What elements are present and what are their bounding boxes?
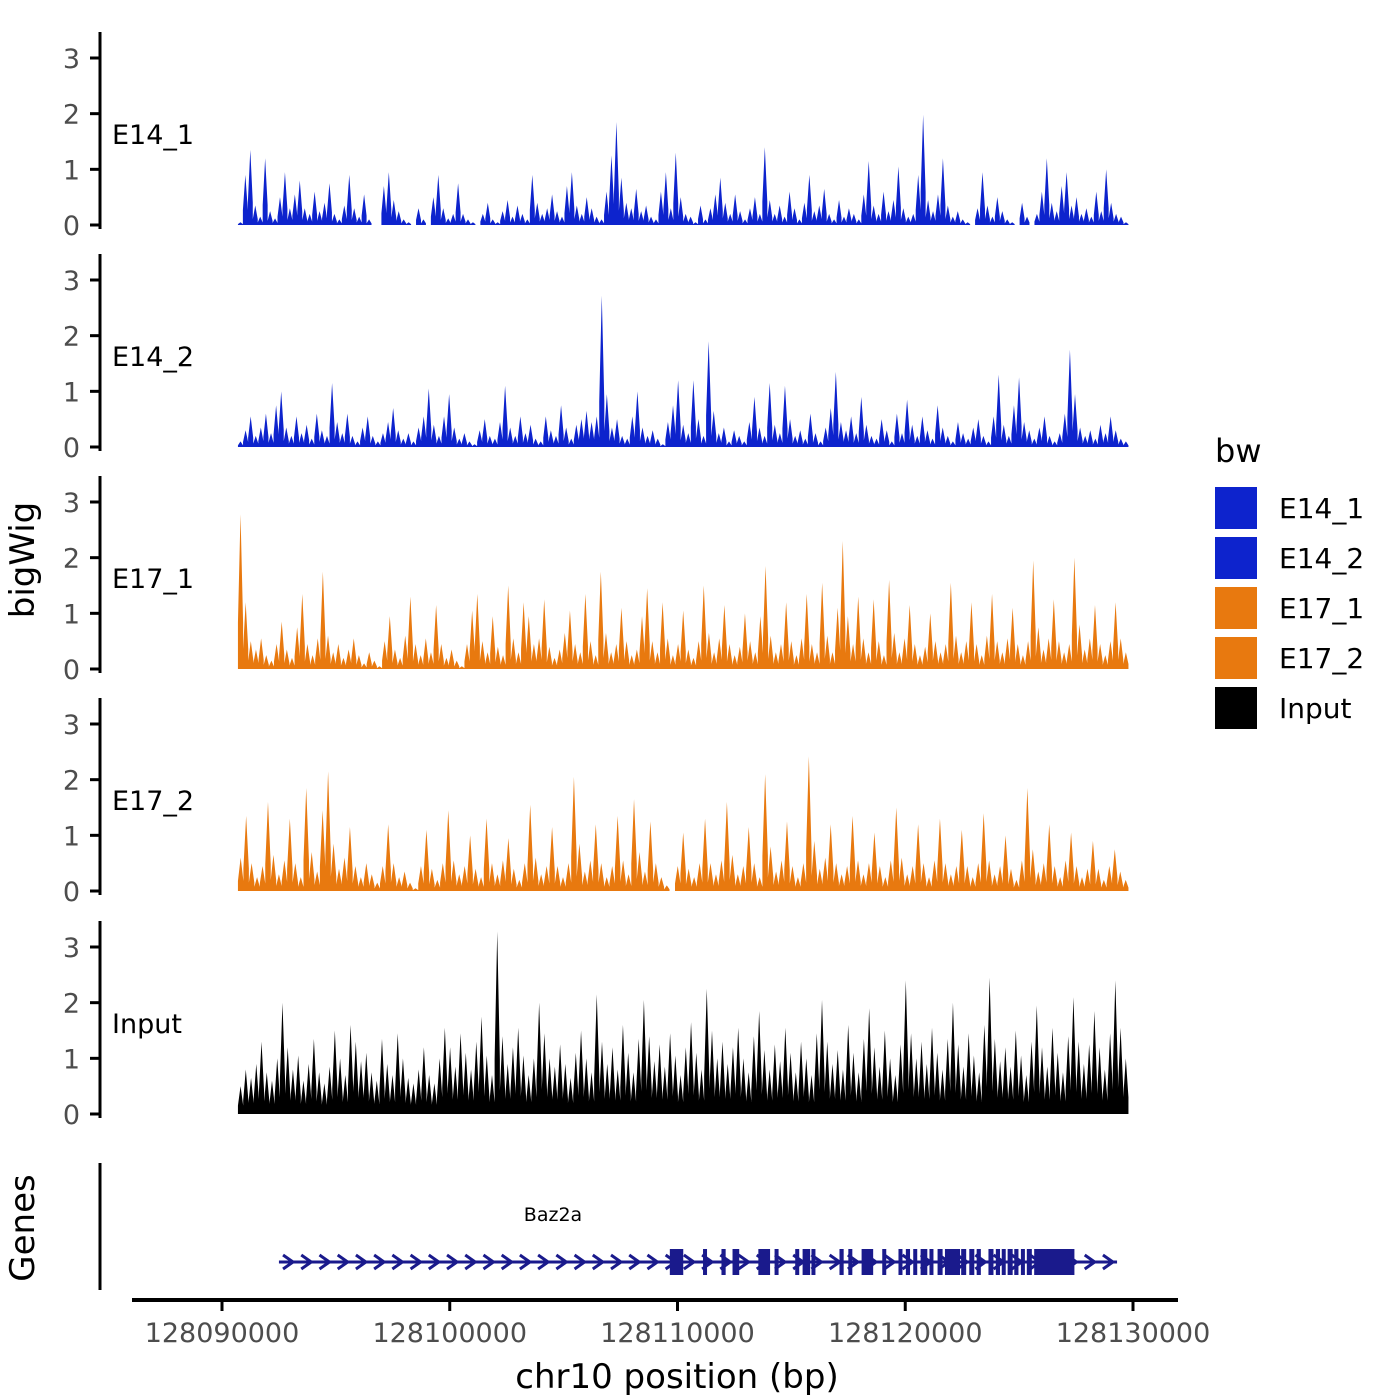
y-tick-label: 1 bbox=[63, 155, 80, 186]
legend-swatch-E14_1 bbox=[1215, 487, 1257, 529]
gene-exon-block[interactable] bbox=[1021, 1249, 1025, 1275]
gene-exon-block[interactable] bbox=[795, 1249, 799, 1275]
genome-browser-figure: 0123E14_10123E14_20123E17_10123E17_20123… bbox=[0, 0, 1400, 1400]
y-tick-label: 3 bbox=[63, 488, 80, 519]
legend-item-E17_2[interactable]: E17_2 bbox=[1215, 637, 1364, 679]
gene-exon-block[interactable] bbox=[1027, 1249, 1032, 1275]
legend-item-E17_1[interactable]: E17_1 bbox=[1215, 587, 1364, 629]
gene-exon-block[interactable] bbox=[775, 1249, 779, 1275]
gene-exon-block[interactable] bbox=[961, 1249, 966, 1275]
y-tick-label: 1 bbox=[63, 377, 80, 408]
gene-exon-block[interactable] bbox=[988, 1249, 993, 1275]
legend-swatch-E17_2 bbox=[1215, 637, 1257, 679]
legend-item-E14_2[interactable]: E14_2 bbox=[1215, 537, 1364, 579]
y-tick-label: 0 bbox=[63, 1100, 80, 1131]
gene-exon-block[interactable] bbox=[862, 1249, 870, 1275]
gene-exon-block[interactable] bbox=[803, 1249, 811, 1275]
gene-exon-block[interactable] bbox=[721, 1249, 725, 1275]
y-tick-label: 3 bbox=[63, 933, 80, 964]
y-axis-title-group: bigWig bbox=[3, 502, 43, 619]
gene-exon-block[interactable] bbox=[670, 1249, 683, 1275]
legend-label-E14_1: E14_1 bbox=[1279, 492, 1364, 525]
y-tick-label: 2 bbox=[63, 544, 80, 575]
x-tick-label: 128110000 bbox=[600, 1318, 755, 1349]
y-tick-label: 3 bbox=[63, 266, 80, 297]
x-tick-label: 128100000 bbox=[372, 1318, 527, 1349]
legend-swatch-E17_1 bbox=[1215, 587, 1257, 629]
gene-exon-block[interactable] bbox=[869, 1249, 873, 1275]
gene-exon-block[interactable] bbox=[839, 1249, 843, 1275]
y-tick-label: 0 bbox=[63, 433, 80, 464]
legend-swatch-E14_2 bbox=[1215, 537, 1257, 579]
gene-exon-block[interactable] bbox=[733, 1249, 740, 1275]
gene-exon-block[interactable] bbox=[898, 1249, 902, 1275]
x-axis-title-group: chr10 position (bp) bbox=[515, 1357, 838, 1397]
gene-exon-block[interactable] bbox=[1034, 1249, 1074, 1275]
gene-exon-block[interactable] bbox=[977, 1249, 981, 1275]
gene-exon-block[interactable] bbox=[929, 1249, 933, 1275]
y-axis-title: bigWig bbox=[3, 502, 43, 619]
figure-root: 0123E14_10123E14_20123E17_10123E17_20123… bbox=[0, 0, 1400, 1400]
x-tick-label: 128120000 bbox=[828, 1318, 983, 1349]
gene-exon-block[interactable] bbox=[945, 1249, 960, 1275]
gene-exon-block[interactable] bbox=[848, 1249, 852, 1275]
genes-axis-title: Genes bbox=[3, 1174, 43, 1281]
y-tick-label: 2 bbox=[63, 766, 80, 797]
y-tick-label: 2 bbox=[63, 989, 80, 1020]
legend-label-E14_2: E14_2 bbox=[1279, 542, 1364, 575]
gene-exon-block[interactable] bbox=[969, 1249, 974, 1275]
genes-axis-title-group: Genes bbox=[3, 1174, 43, 1281]
x-tick-label: 128130000 bbox=[1056, 1318, 1211, 1349]
gene-exon-block[interactable] bbox=[996, 1249, 1000, 1275]
gene-exon-block[interactable] bbox=[913, 1249, 917, 1275]
legend-label-E17_1: E17_1 bbox=[1279, 592, 1364, 625]
gene-exon-block[interactable] bbox=[1002, 1249, 1006, 1275]
y-tick-label: 0 bbox=[63, 655, 80, 686]
y-tick-label: 0 bbox=[63, 211, 80, 242]
legend-label-Input: Input bbox=[1279, 692, 1352, 725]
gene-exon-block[interactable] bbox=[758, 1249, 770, 1275]
x-tick-label: 128090000 bbox=[145, 1318, 300, 1349]
y-tick-label: 1 bbox=[63, 1044, 80, 1075]
y-tick-label: 2 bbox=[63, 100, 80, 131]
y-tick-label: 1 bbox=[63, 599, 80, 630]
y-tick-label: 3 bbox=[63, 44, 80, 75]
gene-exon-block[interactable] bbox=[1008, 1249, 1013, 1275]
y-tick-label: 3 bbox=[63, 710, 80, 741]
gene-exon-block[interactable] bbox=[938, 1249, 943, 1275]
track-label-Input: Input bbox=[112, 1009, 182, 1040]
gene-exon-block[interactable] bbox=[703, 1249, 707, 1275]
y-tick-label: 2 bbox=[63, 322, 80, 353]
track-label-E17_1: E17_1 bbox=[112, 564, 194, 595]
legend-label-E17_2: E17_2 bbox=[1279, 642, 1364, 675]
gene-exon-block[interactable] bbox=[811, 1249, 815, 1275]
legend-swatch-Input bbox=[1215, 687, 1257, 729]
gene-name-label: Baz2a bbox=[524, 1204, 582, 1226]
gene-exon-block[interactable] bbox=[921, 1249, 928, 1275]
gene-exon-block[interactable] bbox=[882, 1249, 886, 1275]
track-label-E17_2: E17_2 bbox=[112, 786, 194, 817]
y-tick-label: 0 bbox=[63, 877, 80, 908]
legend-item-Input[interactable]: Input bbox=[1215, 687, 1352, 729]
track-label-E14_1: E14_1 bbox=[112, 120, 194, 151]
legend-item-E14_1[interactable]: E14_1 bbox=[1215, 487, 1364, 529]
x-axis-title: chr10 position (bp) bbox=[515, 1357, 838, 1397]
gene-exon-block[interactable] bbox=[1014, 1249, 1018, 1275]
track-label-E14_2: E14_2 bbox=[112, 342, 194, 373]
gene-exon-block[interactable] bbox=[906, 1249, 910, 1275]
legend-title: bw bbox=[1215, 432, 1261, 470]
y-tick-label: 1 bbox=[63, 821, 80, 852]
